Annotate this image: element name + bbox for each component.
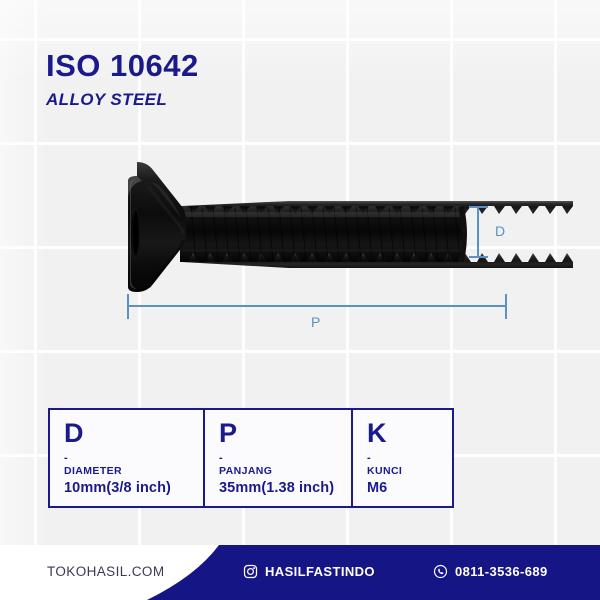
spec-column-length: P - PANJANG 35mm(1.38 inch) (205, 410, 353, 506)
instagram-icon (243, 564, 258, 579)
spec-name-label: PANJANG (219, 465, 351, 478)
screw-countersunk-head (128, 162, 186, 292)
spec-value: M6 (367, 479, 452, 498)
spec-value: 35mm(1.38 inch) (219, 479, 351, 498)
dimension-label-length: P (311, 314, 321, 330)
spec-dash: - (367, 453, 452, 464)
whatsapp-icon (433, 564, 448, 579)
spec-key-letter: K (367, 420, 452, 447)
spec-dash: - (64, 453, 203, 464)
spec-value: 10mm(3/8 inch) (64, 479, 203, 498)
footer-instagram-handle: HASILFASTINDO (265, 564, 375, 579)
spec-column-diameter: D - DIAMETER 10mm(3/8 inch) (50, 410, 205, 506)
spec-name-label: KUNCI (367, 465, 452, 478)
footer-instagram[interactable]: HASILFASTINDO (243, 564, 375, 579)
footer-website[interactable]: TOKOHASIL.COM (47, 564, 164, 579)
dimension-label-diameter: D (495, 223, 506, 239)
screw-threaded-shank (180, 201, 573, 268)
spec-name-label: DIAMETER (64, 465, 203, 478)
product-illustration (0, 0, 600, 600)
spec-key-letter: D (64, 420, 203, 447)
footer-whatsapp[interactable]: 0811-3536-689 (433, 564, 548, 579)
spec-key-letter: P (219, 420, 351, 447)
footer-bar: TOKOHASIL.COM HASILFASTINDO 0811-3536-68… (0, 545, 600, 600)
spec-column-key-size: K - KUNCI M6 (353, 410, 452, 506)
product-spec-card: ISO 10642 ALLOY STEEL (0, 0, 600, 600)
dimension-line-diameter (469, 207, 488, 257)
footer-whatsapp-number: 0811-3536-689 (455, 564, 548, 579)
spec-dash: - (219, 453, 351, 464)
specification-table: D - DIAMETER 10mm(3/8 inch) P - PANJANG … (48, 408, 454, 508)
